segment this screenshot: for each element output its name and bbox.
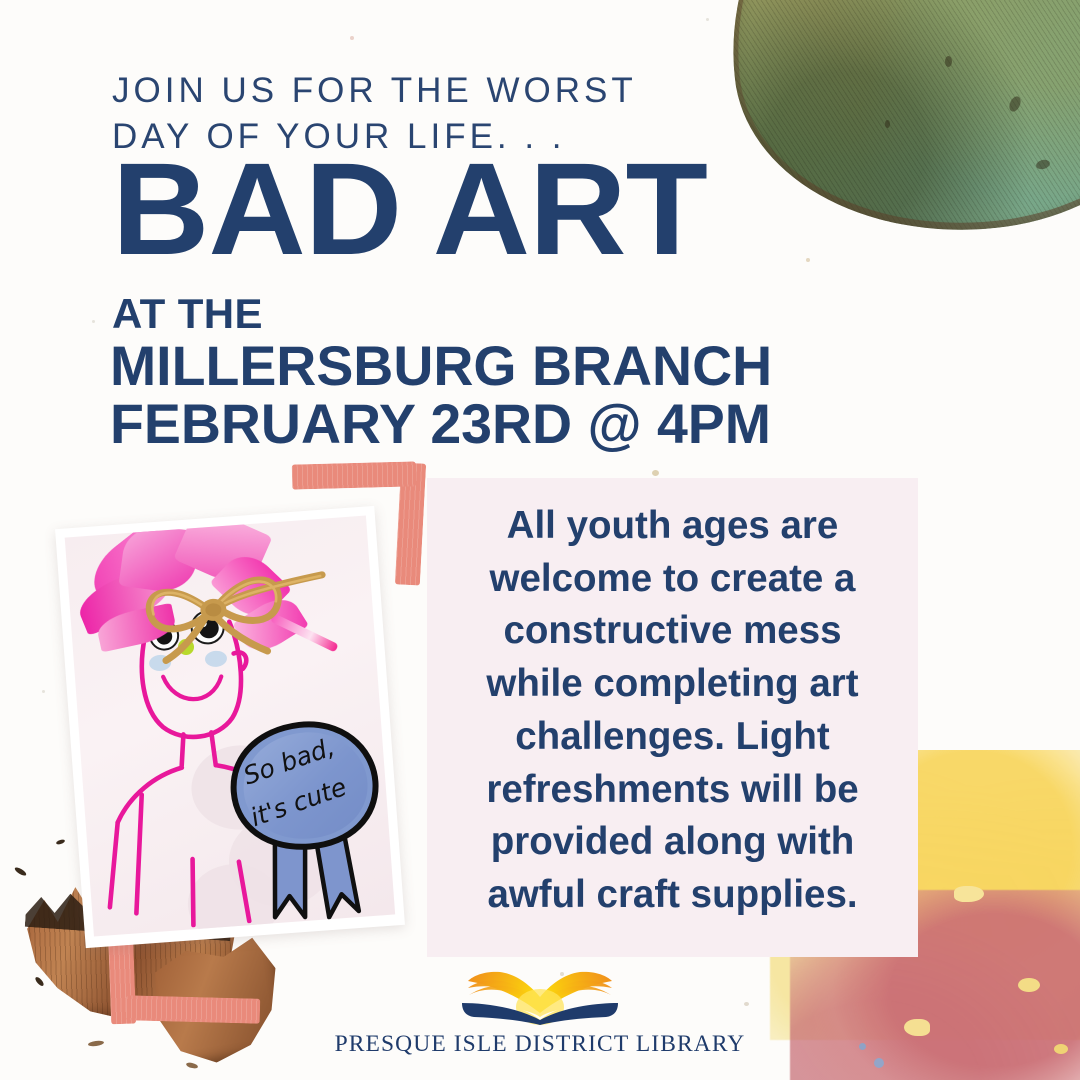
library-name: PRESQUE ISLE DISTRICT LIBRARY bbox=[0, 1031, 1080, 1058]
background-speck bbox=[706, 18, 709, 21]
chalk-chunk-blue bbox=[874, 1058, 884, 1068]
palette-speck bbox=[885, 120, 890, 128]
poster-canvas: So bad, it's cute JOIN US FOR THE WORST … bbox=[0, 0, 1080, 1080]
page-title: BAD ART bbox=[112, 157, 707, 262]
wood-dust bbox=[186, 1062, 199, 1070]
paint-palette-decoration bbox=[709, 0, 1080, 253]
venue-and-time: MILLERSBURG BRANCH FEBRUARY 23RD @ 4PM bbox=[110, 337, 772, 452]
background-speck bbox=[42, 690, 45, 693]
background-speck bbox=[652, 470, 659, 476]
datetime-line: FEBRUARY 23RD @ 4PM bbox=[110, 395, 772, 453]
drawing-paper: So bad, it's cute bbox=[65, 515, 395, 936]
twine-bow bbox=[94, 540, 334, 675]
background-speck bbox=[806, 258, 810, 262]
graphite-dust bbox=[56, 839, 66, 846]
description-text: All youth ages are welcome to create a c… bbox=[427, 500, 918, 922]
library-logo: PRESQUE ISLE DISTRICT LIBRARY bbox=[0, 963, 1080, 1058]
kicker-line-1: JOIN US FOR THE WORST bbox=[112, 68, 637, 114]
background-speck bbox=[350, 36, 354, 40]
at-the-label: AT THE bbox=[112, 290, 263, 338]
graphite-dust bbox=[14, 866, 28, 877]
prize-ribbon: So bad, it's cute bbox=[211, 713, 395, 935]
description-panel: All youth ages are welcome to create a c… bbox=[427, 478, 918, 957]
palette-speck bbox=[945, 56, 952, 67]
background-speck bbox=[92, 320, 95, 323]
venue-line: MILLERSBURG BRANCH bbox=[110, 337, 772, 395]
open-book-icon bbox=[454, 963, 626, 1025]
bad-art-photo: So bad, it's cute bbox=[55, 506, 405, 948]
